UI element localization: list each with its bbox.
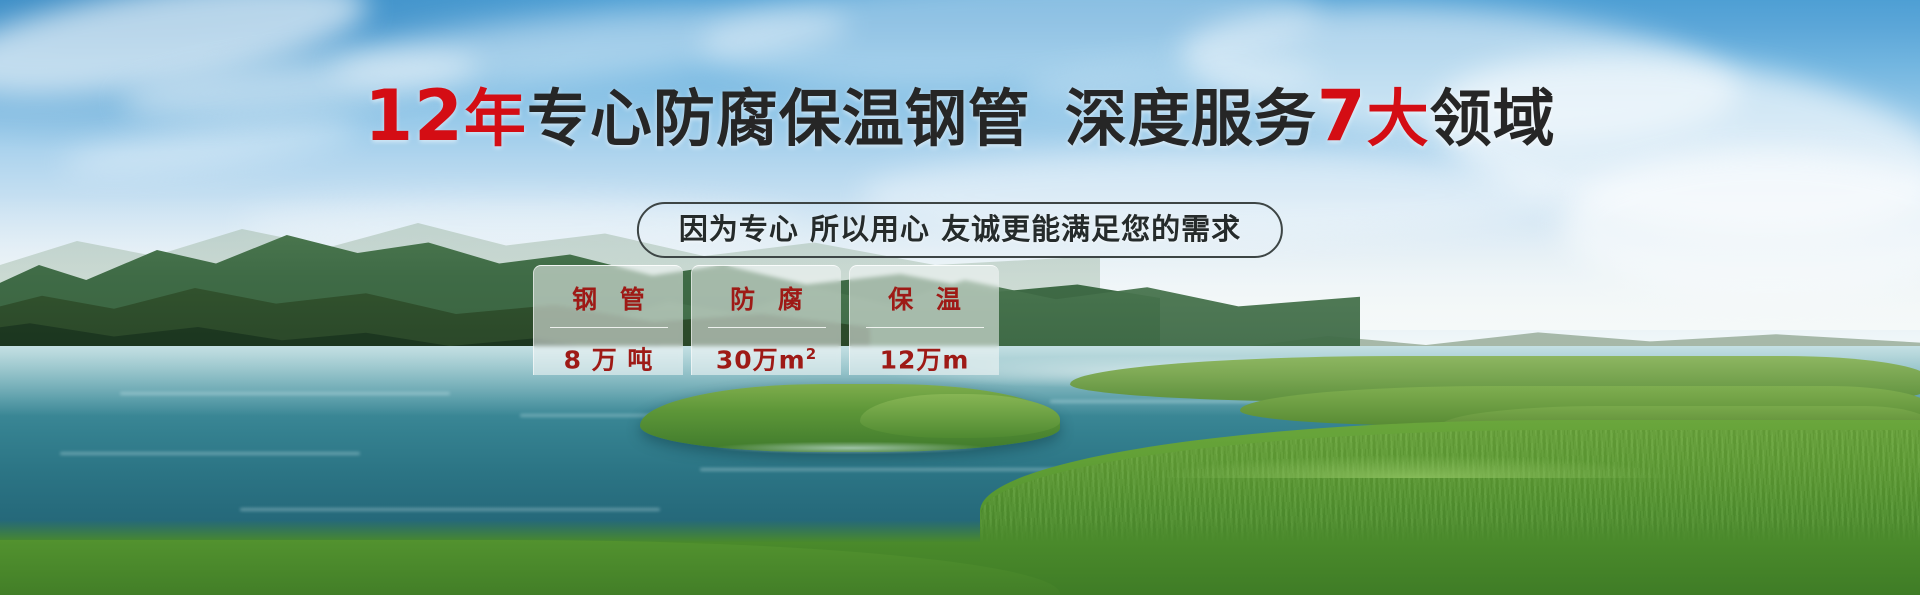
banner-headline: 12年专心防腐保温钢管深度服务7大领域 bbox=[0, 84, 1920, 151]
stat-card-value: 12万m bbox=[880, 340, 970, 374]
headline-fields-measure: 大 bbox=[1367, 82, 1430, 155]
stat-card-value-superscript: 2 bbox=[806, 345, 817, 363]
headline-fields-text: 领域 bbox=[1430, 82, 1556, 155]
stat-card-insulation[interactable]: 保 温 12万m bbox=[849, 265, 999, 375]
headline-service-text: 深度服务 bbox=[1065, 82, 1317, 155]
headline-years-number: 12 bbox=[364, 75, 463, 157]
hero-banner: 12年专心防腐保温钢管深度服务7大领域 因为专心 所以用心 友诚更能满足您的需求… bbox=[0, 0, 1920, 595]
stat-card-divider bbox=[550, 327, 668, 328]
stat-card-title: 钢 管 bbox=[565, 286, 652, 314]
stat-card-value: 30万m2 bbox=[716, 340, 817, 374]
stat-card-divider bbox=[866, 327, 984, 328]
headline-fields-number: 7 bbox=[1317, 75, 1367, 157]
water-ripple bbox=[240, 508, 660, 511]
stat-card-value-text: 8 万 吨 bbox=[564, 345, 654, 374]
stat-card-group: 钢 管 8 万 吨 防 腐 30万m2 保 温 12万m bbox=[533, 265, 999, 375]
stat-card-value: 8 万 吨 bbox=[564, 340, 654, 374]
stat-card-anticorrosion[interactable]: 防 腐 30万m2 bbox=[691, 265, 841, 375]
headline-years-unit: 年 bbox=[464, 82, 527, 155]
water-ripple bbox=[120, 392, 450, 395]
headline-main-text: 专心防腐保温钢管 bbox=[527, 82, 1031, 155]
water-ripple bbox=[60, 452, 360, 455]
grass-island-small bbox=[860, 394, 1060, 438]
stat-card-value-text: 12万m bbox=[880, 345, 970, 374]
stat-card-title: 防 腐 bbox=[723, 286, 810, 314]
stat-card-value-text: 30万m bbox=[716, 345, 806, 374]
stat-card-divider bbox=[708, 327, 826, 328]
stat-card-steel-pipe[interactable]: 钢 管 8 万 吨 bbox=[533, 265, 683, 375]
stat-card-title: 保 温 bbox=[881, 286, 968, 314]
banner-subtitle-pill: 因为专心 所以用心 友诚更能满足您的需求 bbox=[637, 202, 1283, 258]
